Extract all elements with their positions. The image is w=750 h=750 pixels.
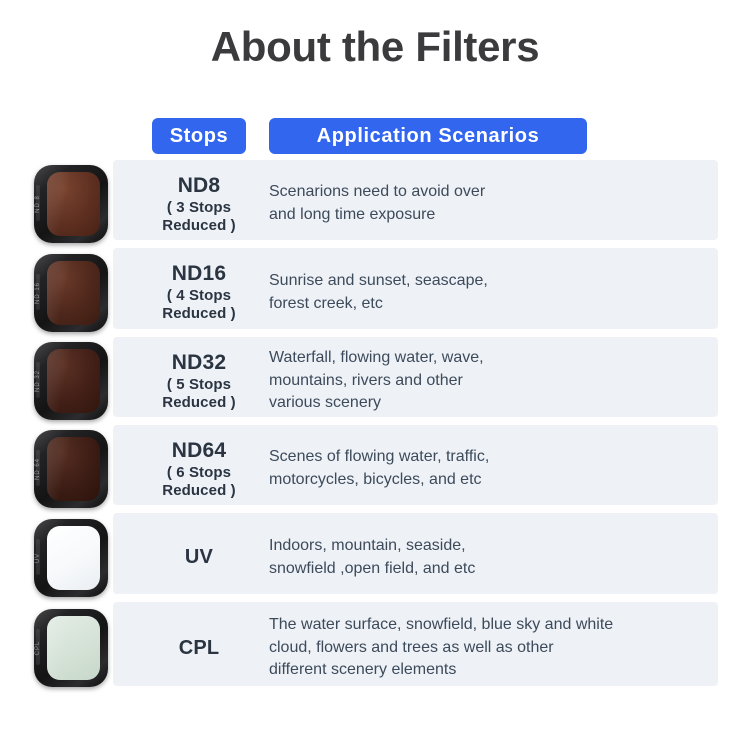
stops-cell: UV bbox=[128, 513, 270, 602]
stops-reduction-line1: ( 3 Stops bbox=[167, 199, 231, 217]
table-row: ND 32ND32( 5 StopsReduced )Waterfall, fl… bbox=[0, 337, 750, 425]
application-scenario-cell: Scenarions need to avoid overand long ti… bbox=[269, 160, 709, 248]
application-scenario-cell: Sunrise and sunset, seascape,forest cree… bbox=[269, 248, 709, 337]
nd64-filter-icon: ND 64 bbox=[34, 430, 108, 508]
scenario-line: Scenes of flowing water, traffic, bbox=[269, 446, 709, 469]
header-badge-application-scenarios: Application Scenarios bbox=[269, 118, 587, 154]
filter-name: CPL bbox=[179, 636, 220, 660]
filter-name: ND8 bbox=[178, 173, 221, 199]
scenario-line: Waterfall, flowing water, wave, bbox=[269, 347, 709, 370]
nd32-filter-icon: ND 32 bbox=[34, 342, 108, 420]
filter-glass bbox=[47, 349, 100, 413]
scenario-line: Indoors, mountain, seaside, bbox=[269, 535, 709, 558]
application-scenario-cell: Indoors, mountain, seaside,snowfield ,op… bbox=[269, 513, 709, 602]
stops-reduction-line2: Reduced ) bbox=[162, 482, 235, 500]
stops-cell: ND32( 5 StopsReduced ) bbox=[128, 337, 270, 425]
filter-engraving-label: CPL bbox=[35, 641, 41, 656]
stops-cell: ND64( 6 StopsReduced ) bbox=[128, 425, 270, 513]
filter-engraving-label: UV bbox=[35, 552, 41, 562]
application-scenario-cell: Scenes of flowing water, traffic,motorcy… bbox=[269, 425, 709, 513]
page-title: About the Filters bbox=[0, 26, 750, 68]
table-row: ND 64ND64( 6 StopsReduced )Scenes of flo… bbox=[0, 425, 750, 513]
scenario-line: Sunrise and sunset, seascape, bbox=[269, 270, 709, 293]
filter-glass bbox=[47, 616, 100, 680]
scenario-line: cloud, flowers and trees as well as othe… bbox=[269, 637, 714, 660]
filter-thumbnail-cell: ND 16 bbox=[33, 248, 109, 337]
uv-filter-icon: UV bbox=[34, 519, 108, 597]
scenario-line: mountains, rivers and other bbox=[269, 370, 709, 393]
table-header: Stops Application Scenarios bbox=[0, 118, 750, 154]
filter-name: UV bbox=[185, 545, 213, 569]
filter-name: ND16 bbox=[172, 261, 227, 287]
stops-reduction-line2: Reduced ) bbox=[162, 217, 235, 235]
stops-cell: ND16( 4 StopsReduced ) bbox=[128, 248, 270, 337]
filter-engraving-label: ND 16 bbox=[35, 281, 41, 303]
scenario-line: and long time exposure bbox=[269, 204, 709, 227]
filter-name: ND64 bbox=[172, 438, 227, 464]
stops-reduction-line2: Reduced ) bbox=[162, 305, 235, 323]
stops-cell: CPL bbox=[128, 602, 270, 694]
header-badge-stops: Stops bbox=[152, 118, 246, 154]
stops-cell: ND8( 3 StopsReduced ) bbox=[128, 160, 270, 248]
stops-reduction-line1: ( 4 Stops bbox=[167, 287, 231, 305]
filter-engraving-label: ND 64 bbox=[35, 458, 41, 480]
filter-thumbnail-cell: UV bbox=[33, 513, 109, 602]
scenario-line: The water surface, snowfield, blue sky a… bbox=[269, 614, 714, 637]
filter-thumbnail-cell: CPL bbox=[33, 602, 109, 694]
scenario-line: forest creek, etc bbox=[269, 293, 709, 316]
filter-thumbnail-cell: ND 32 bbox=[33, 337, 109, 425]
filter-glass bbox=[47, 437, 100, 501]
filter-glass bbox=[47, 261, 100, 325]
stops-reduction-line1: ( 6 Stops bbox=[167, 464, 231, 482]
filter-engraving-label: ND 32 bbox=[35, 370, 41, 392]
scenario-line: different scenery elements bbox=[269, 659, 714, 682]
table-row: CPLCPLThe water surface, snowfield, blue… bbox=[0, 602, 750, 694]
filters-table: ND 8ND8( 3 StopsReduced )Scenarions need… bbox=[0, 160, 750, 694]
filter-glass bbox=[47, 172, 100, 236]
nd8-filter-icon: ND 8 bbox=[34, 165, 108, 243]
scenario-line: motorcycles, bicycles, and etc bbox=[269, 469, 709, 492]
scenario-line: Scenarions need to avoid over bbox=[269, 181, 709, 204]
table-row: ND 16ND16( 4 StopsReduced )Sunrise and s… bbox=[0, 248, 750, 337]
filter-name: ND32 bbox=[172, 350, 227, 376]
filter-engraving-label: ND 8 bbox=[35, 195, 41, 213]
scenario-line: snowfield ,open field, and etc bbox=[269, 558, 709, 581]
nd16-filter-icon: ND 16 bbox=[34, 254, 108, 332]
application-scenario-cell: Waterfall, flowing water, wave,mountains… bbox=[269, 337, 709, 425]
filter-glass bbox=[47, 526, 100, 590]
application-scenario-cell: The water surface, snowfield, blue sky a… bbox=[269, 602, 714, 694]
table-row: ND 8ND8( 3 StopsReduced )Scenarions need… bbox=[0, 160, 750, 248]
table-row: UVUVIndoors, mountain, seaside,snowfield… bbox=[0, 513, 750, 602]
stops-reduction-line2: Reduced ) bbox=[162, 394, 235, 412]
stops-reduction-line1: ( 5 Stops bbox=[167, 376, 231, 394]
filter-thumbnail-cell: ND 64 bbox=[33, 425, 109, 513]
scenario-line: various scenery bbox=[269, 392, 709, 415]
cpl-filter-icon: CPL bbox=[34, 609, 108, 687]
filter-thumbnail-cell: ND 8 bbox=[33, 160, 109, 248]
